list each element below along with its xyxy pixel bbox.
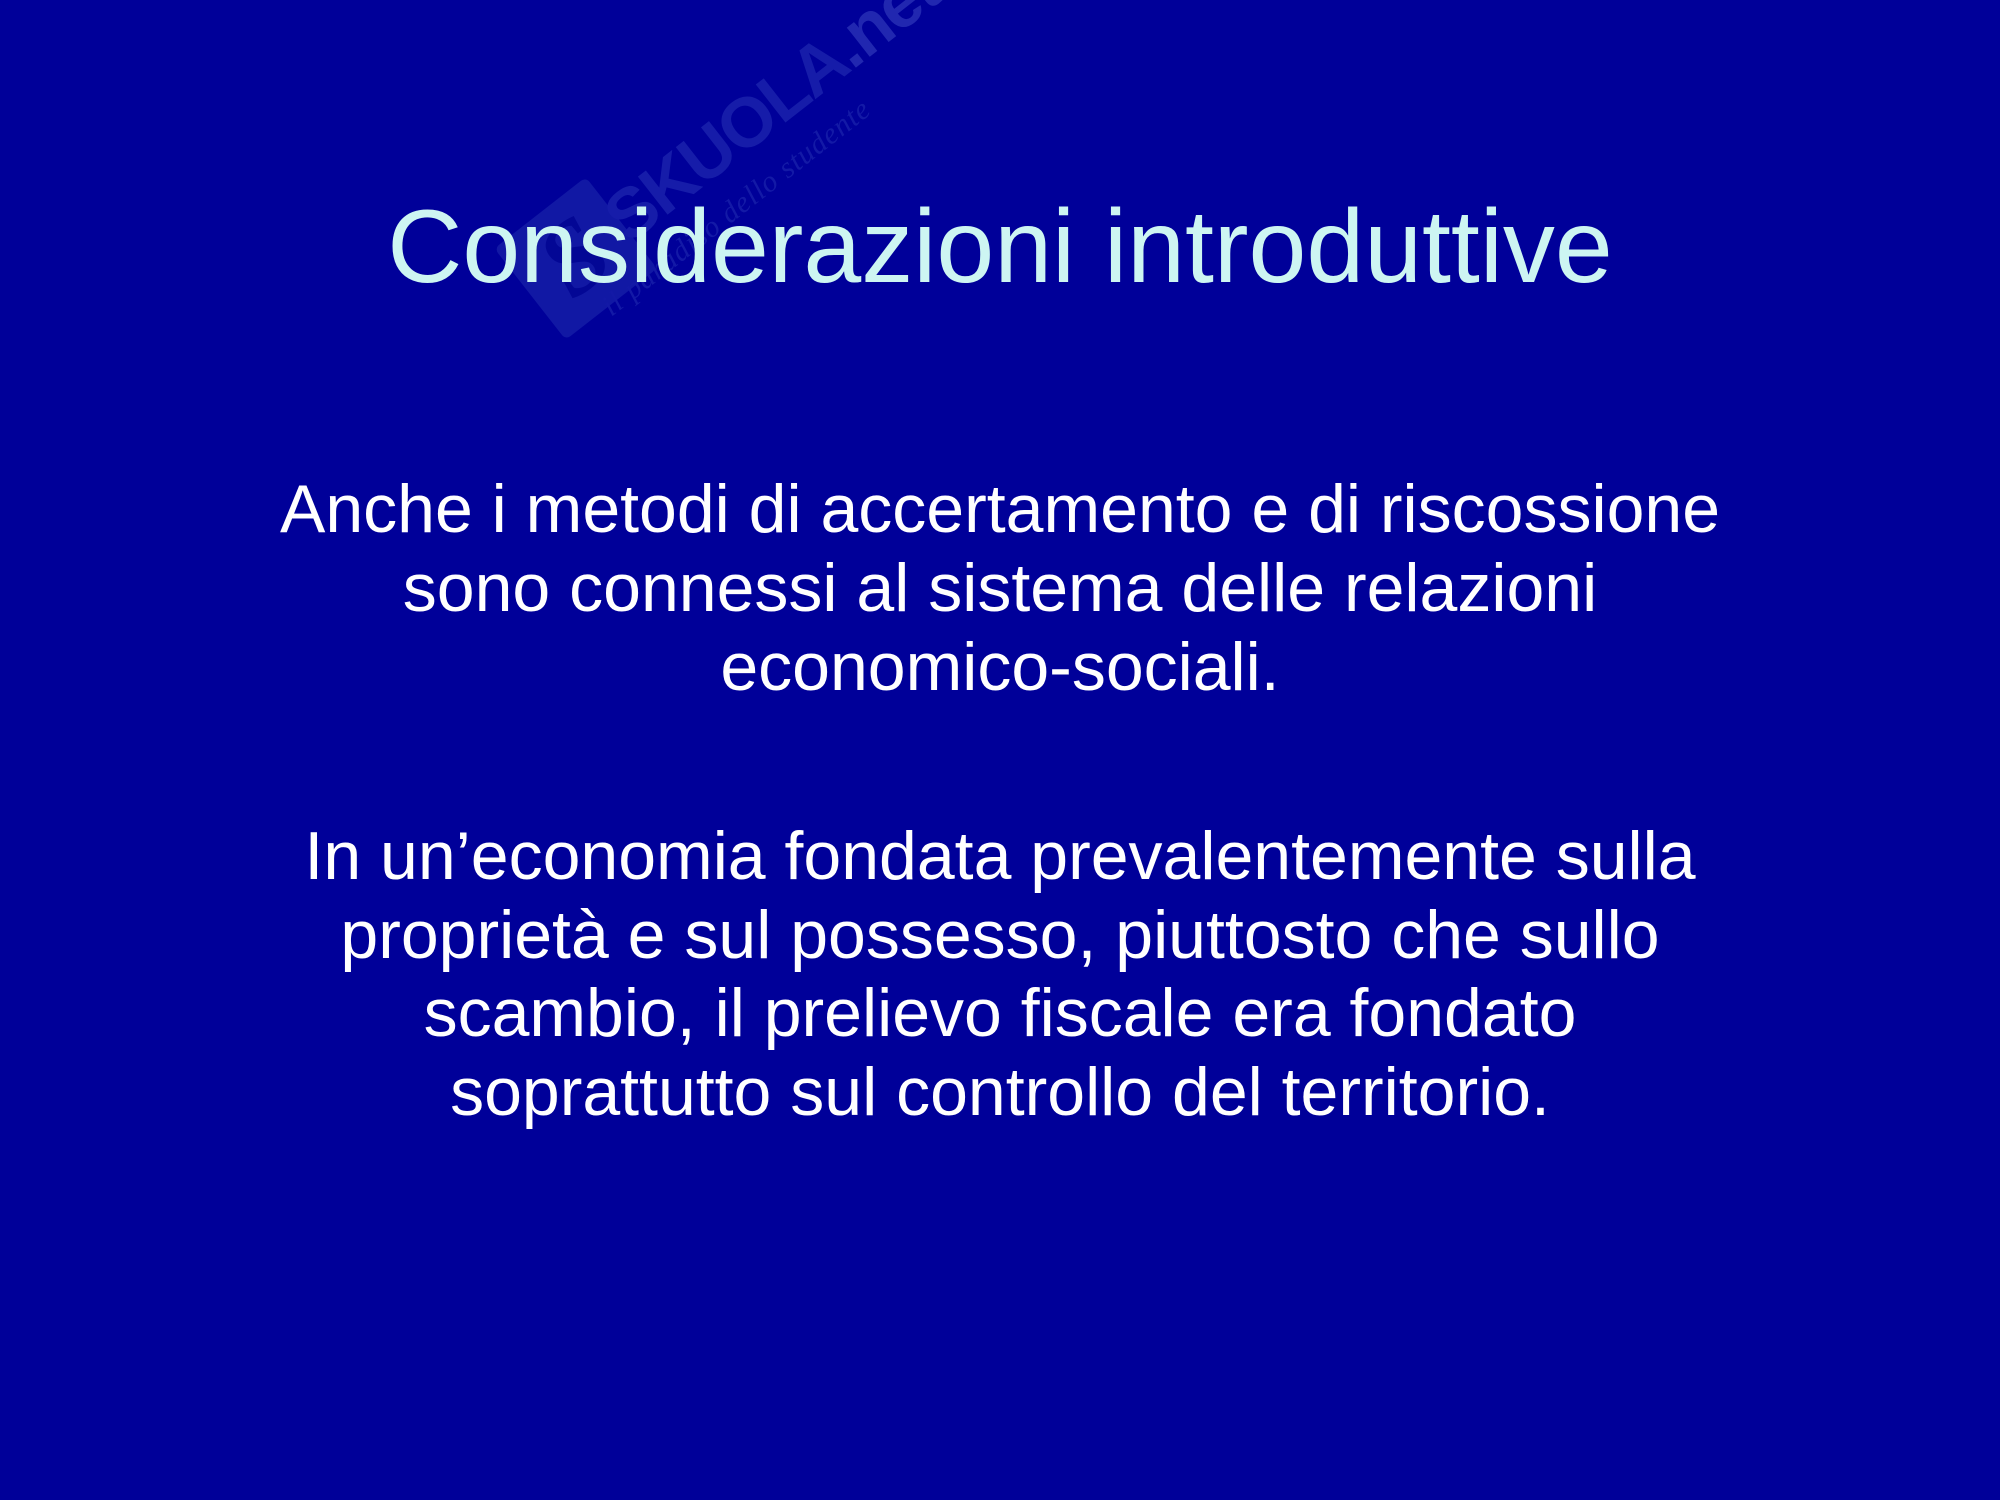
body-paragraph-2: In un’economia fondata prevalentemente s…: [110, 817, 1890, 1133]
paragraph-2-line-4: soprattutto sul controllo del territorio…: [110, 1053, 1890, 1132]
paragraph-2-line-2: proprietà e sul possesso, piuttosto che …: [110, 896, 1890, 975]
watermark-brand-domain: .net: [813, 0, 953, 82]
paragraph-1-line-2: sono connessi al sistema delle relazioni: [110, 549, 1890, 628]
presentation-slide: S SKUOLA.net il paradiso dello studente …: [0, 0, 2000, 1500]
paragraph-1-line-1: Anche i metodi di accertamento e di risc…: [110, 470, 1890, 549]
paragraph-2-line-1: In un’economia fondata prevalentemente s…: [110, 817, 1890, 896]
slide-title: Considerazioni introduttive: [0, 192, 2000, 302]
paragraph-1-line-3: economico-sociali.: [110, 628, 1890, 707]
paragraph-spacer: [110, 707, 1890, 817]
body-paragraph-1: Anche i metodi di accertamento e di risc…: [110, 470, 1890, 707]
paragraph-2-line-3: scambio, il prelievo fiscale era fondato: [110, 974, 1890, 1053]
slide-body: Anche i metodi di accertamento e di risc…: [110, 470, 1890, 1132]
